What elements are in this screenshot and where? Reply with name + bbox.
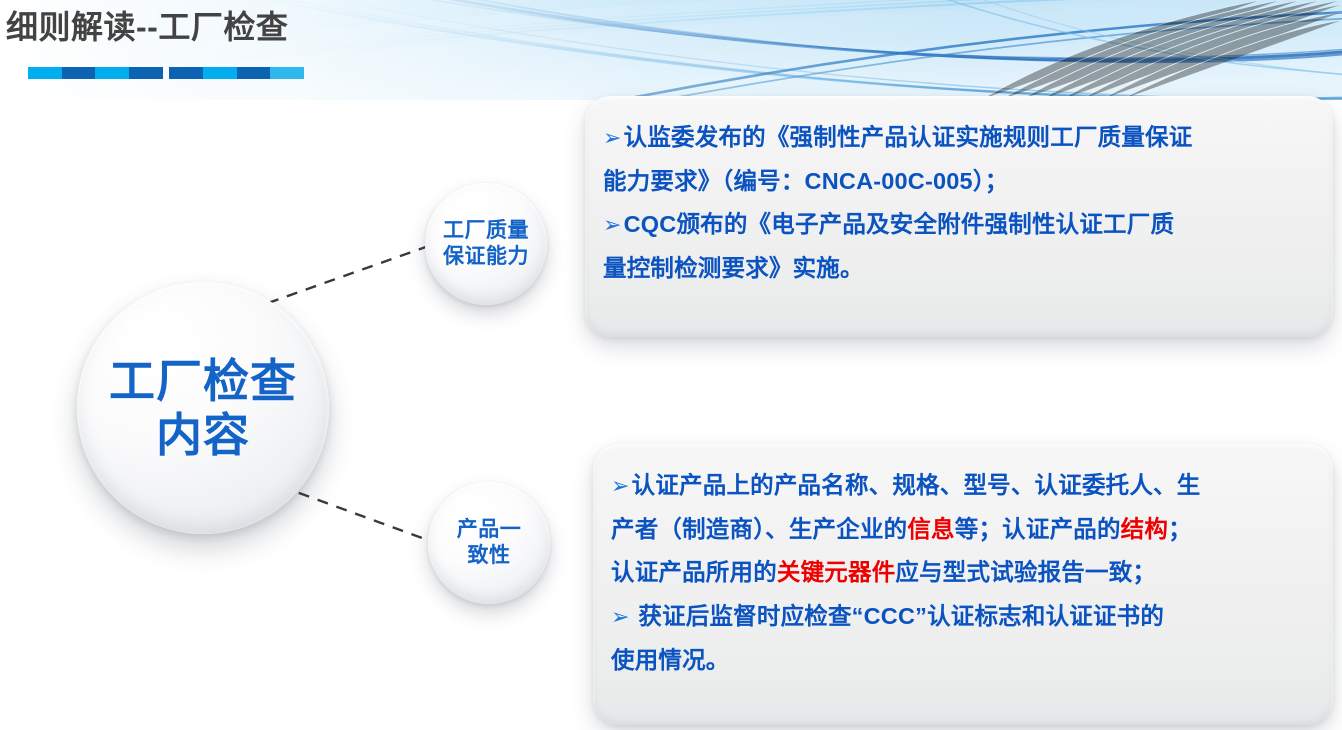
accent-bar-segment-7 [237,67,271,79]
text-run: CQC颁布的《电子产品及安全附件强制性认证工厂质 [624,211,1175,237]
bullet-arrow-icon: ➢ [611,604,630,629]
accent-bar-segment-5 [169,67,203,79]
content-box-product-consistency: ➢认证产品上的产品名称、规格、型号、认证委托人、生产者（制造商）、生产企业的信息… [593,444,1333,725]
text-run: 应与型式试验报告一致； [895,559,1156,585]
text-run: 等；认证产品的 [955,516,1121,542]
content-line: ➢认监委发布的《强制性产品认证实施规则工厂质量保证 [603,116,1307,160]
text-run: 产者（制造商）、生产企业的 [611,516,907,542]
slide-canvas: 细则解读--工厂检查 工厂检查 内容 工厂质量 保证能力 产品一 致性 ➢认监委… [0,0,1342,730]
text-run: 认监委发布的《强制性产品认证实施规则工厂质量保证 [624,124,1193,150]
content-line: ➢认证产品上的产品名称、规格、型号、认证委托人、生 [611,464,1307,508]
text-run: 量控制检测要求》实施。 [603,255,864,281]
accent-bar-segment-8 [270,67,304,79]
text-run: ； [1168,516,1192,542]
text-run: 获证后监督时应检查“CCC”认证标志和认证证书的 [632,603,1164,629]
node-product-consistency[interactable]: 产品一 致性 [428,482,550,604]
center-node-factory-inspection[interactable]: 工厂检查 内容 [77,282,329,534]
content-line: ➢CQC颁布的《电子产品及安全附件强制性认证工厂质 [603,203,1307,247]
page-title: 细则解读--工厂检查 [6,6,288,48]
content-line: 量控制检测要求》实施。 [603,247,1307,291]
content-line: 认证产品所用的关键元器件应与型式试验报告一致； [611,551,1307,595]
text-run: 使用情况。 [611,647,730,673]
accent-bar-segment-3 [129,67,163,79]
content-line: 产者（制造商）、生产企业的信息等；认证产品的结构； [611,508,1307,552]
text-run: 认证产品上的产品名称、规格、型号、认证委托人、生 [632,472,1201,498]
bullet-arrow-icon: ➢ [611,473,630,498]
content-box-quality-assurance: ➢认监委发布的《强制性产品认证实施规则工厂质量保证能力要求》（编号：CNCA-0… [585,96,1333,337]
content-line: ➢ 获证后监督时应检查“CCC”认证标志和认证证书的 [611,595,1307,639]
bullet-arrow-icon: ➢ [603,212,622,237]
connector-center-to-quality [268,243,437,303]
title-accent-bar [28,67,304,79]
content-line: 使用情况。 [611,639,1307,683]
content-line: 能力要求》（编号：CNCA-00C-005）； [603,160,1307,204]
accent-bar-segment-1 [62,67,96,79]
bullet-arrow-icon: ➢ [603,125,622,150]
highlighted-keyword: 结构 [1121,516,1168,542]
accent-bar-segment-6 [203,67,237,79]
accent-bar-segment-2 [95,67,129,79]
text-run: 认证产品所用的 [611,559,777,585]
text-run: 能力要求》（编号：CNCA-00C-005）； [603,168,1008,194]
accent-bar-gap [163,67,170,79]
highlighted-keyword: 关键元器件 [777,559,896,585]
node-consistency-label: 产品一 致性 [457,517,522,570]
accent-bar-segment-0 [28,67,62,79]
connector-center-to-consistency [280,486,452,549]
center-node-label: 工厂检查 内容 [109,354,297,463]
highlighted-keyword: 信息 [907,516,954,542]
node-quality-label: 工厂质量 保证能力 [443,218,529,271]
node-factory-quality-assurance[interactable]: 工厂质量 保证能力 [425,183,547,305]
